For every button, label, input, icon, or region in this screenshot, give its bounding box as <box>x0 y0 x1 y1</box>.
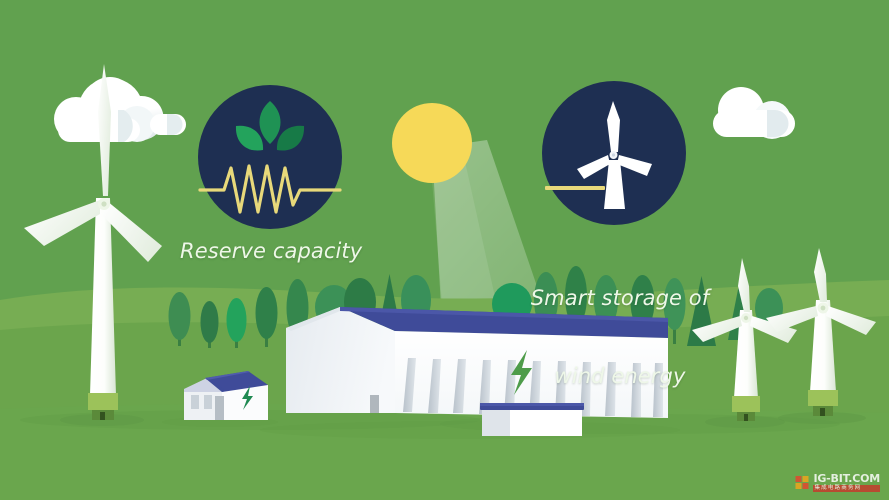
warehouse-shadow <box>260 421 680 439</box>
ground-line-icon <box>545 186 605 190</box>
cloud-small-left <box>150 114 186 135</box>
watermark-title: IG-BIT.COM <box>813 473 880 484</box>
warehouse-side-door <box>370 395 379 413</box>
sun <box>392 103 472 183</box>
illustration-canvas: Reserve capacity Smart storage of wind e… <box>0 0 889 500</box>
watermark-text: IG-BIT.COM 集成电路商务网 <box>813 473 880 493</box>
annex-building <box>480 403 584 436</box>
watermark: IG-BIT.COM 集成电路商务网 <box>795 473 880 493</box>
watermark-logo-icon <box>795 475 810 490</box>
wind-storage-badge <box>542 81 686 225</box>
reserve-capacity-badge <box>198 85 342 229</box>
watermark-subtitle: 集成电路商务网 <box>813 485 880 493</box>
scene-artwork <box>0 0 889 500</box>
